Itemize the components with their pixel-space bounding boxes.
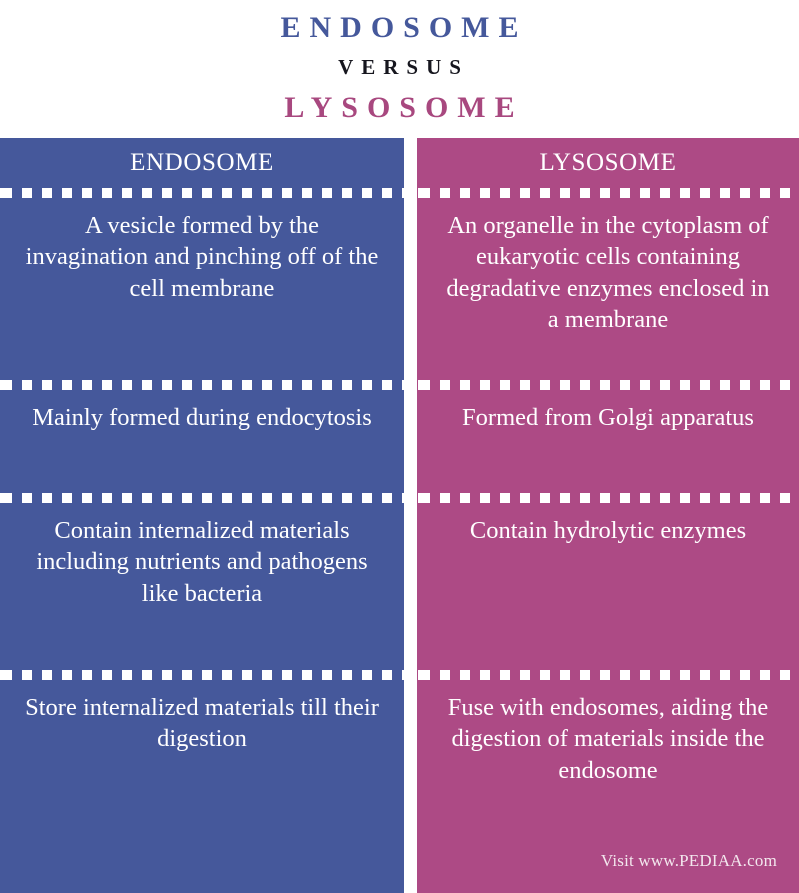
row-separator — [0, 670, 404, 680]
table-row: Mainly formed during endocytosis — [0, 390, 404, 493]
cell-text: Contain internalized materials including… — [0, 503, 404, 609]
table-row: Formed from Golgi apparatus — [417, 390, 799, 493]
table-row: An organelle in the cytoplasm of eukaryo… — [417, 198, 799, 380]
lysosome-column-header: LYSOSOME — [417, 138, 799, 188]
lysosome-column: LYSOSOME An organelle in the cytoplasm o… — [417, 138, 799, 893]
cell-text: A vesicle formed by the invagination and… — [0, 198, 404, 304]
title-versus: VERSUS — [0, 57, 799, 78]
cell-text: Formed from Golgi apparatus — [440, 390, 776, 433]
row-separator — [417, 188, 799, 198]
row-separator — [0, 380, 404, 390]
table-row: Store internalized materials till their … — [0, 680, 404, 893]
row-separator — [417, 493, 799, 503]
row-separator — [417, 380, 799, 390]
table-row: Contain hydrolytic enzymes — [417, 503, 799, 670]
row-separator — [417, 670, 799, 680]
lysosome-header-label: LYSOSOME — [531, 149, 684, 177]
column-divider — [404, 138, 417, 893]
cell-text: Mainly formed during endocytosis — [10, 390, 394, 433]
site-watermark: Visit www.PEDIAA.com — [601, 851, 777, 871]
row-separator — [0, 188, 404, 198]
cell-text: Fuse with endosomes, aiding the digestio… — [417, 680, 799, 786]
cell-text: An organelle in the cytoplasm of eukaryo… — [417, 198, 799, 335]
cell-text: Store internalized materials till their … — [0, 680, 404, 755]
row-separator — [0, 493, 404, 503]
cell-text: Contain hydrolytic enzymes — [448, 503, 768, 546]
endosome-header-label: ENDOSOME — [122, 149, 282, 177]
comparison-table: ENDOSOME A vesicle formed by the invagin… — [0, 138, 799, 893]
endosome-column-header: ENDOSOME — [0, 138, 404, 188]
table-row: A vesicle formed by the invagination and… — [0, 198, 404, 380]
table-row: Contain internalized materials including… — [0, 503, 404, 670]
title-block: ENDOSOME VERSUS LYSOSOME — [0, 0, 799, 138]
title-lysosome: LYSOSOME — [0, 93, 799, 123]
comparison-infographic: ENDOSOME VERSUS LYSOSOME ENDOSOME A vesi… — [0, 0, 799, 893]
endosome-column: ENDOSOME A vesicle formed by the invagin… — [0, 138, 404, 893]
title-endosome: ENDOSOME — [0, 13, 799, 43]
